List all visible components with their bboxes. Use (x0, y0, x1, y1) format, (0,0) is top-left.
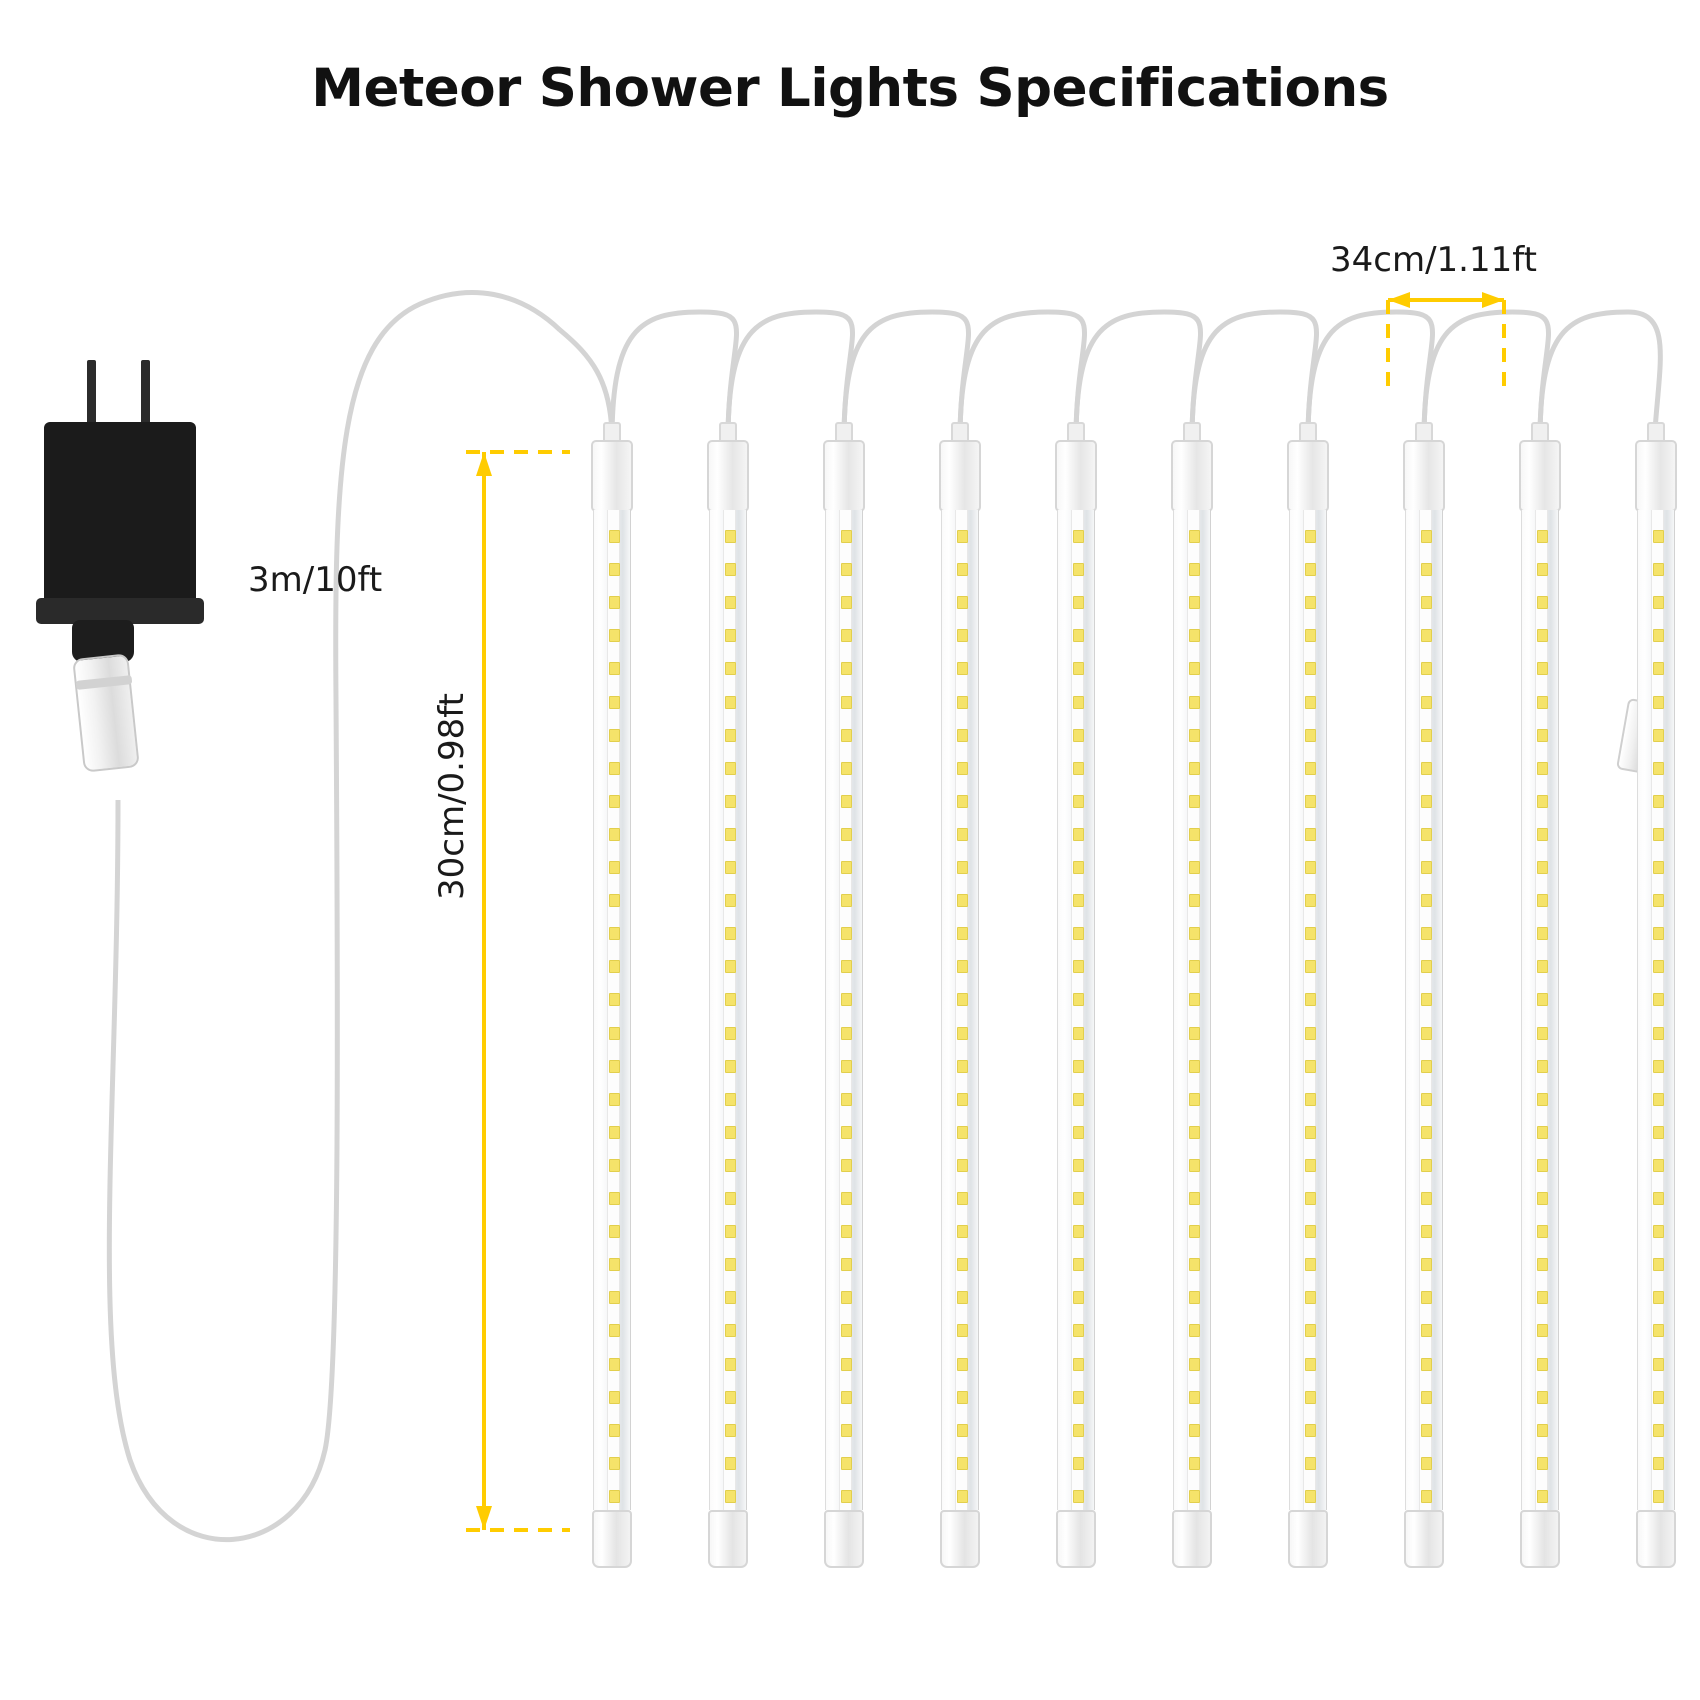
led-strip (1419, 510, 1432, 1510)
led (957, 1291, 968, 1304)
led (1653, 960, 1664, 973)
led (609, 894, 620, 907)
led (1305, 1027, 1316, 1040)
led (841, 1126, 852, 1139)
led (1305, 1490, 1316, 1503)
led (1537, 894, 1548, 907)
led (1189, 960, 1200, 973)
led (1421, 563, 1432, 576)
led (957, 530, 968, 543)
led (1189, 696, 1200, 709)
label-tube-length: 30cm/0.98ft (432, 693, 472, 900)
led (1537, 1027, 1548, 1040)
led (1653, 861, 1664, 874)
led (1189, 1027, 1200, 1040)
led (1189, 1457, 1200, 1470)
tube-cap-top (1055, 440, 1097, 512)
led (1653, 1324, 1664, 1337)
led (1073, 530, 1084, 543)
led (1421, 1424, 1432, 1437)
led (1537, 1291, 1548, 1304)
led (1073, 1324, 1084, 1337)
led (1305, 1457, 1316, 1470)
led (1421, 927, 1432, 940)
led (725, 1457, 736, 1470)
led (841, 861, 852, 874)
led (1537, 563, 1548, 576)
led (1537, 1192, 1548, 1205)
led (1537, 927, 1548, 940)
led (841, 1225, 852, 1238)
led (1653, 629, 1664, 642)
led (841, 1093, 852, 1106)
led (1653, 563, 1664, 576)
led (725, 960, 736, 973)
led (1421, 828, 1432, 841)
led (725, 1291, 736, 1304)
led (1189, 1324, 1200, 1337)
led (957, 894, 968, 907)
led (1305, 894, 1316, 907)
led (1537, 795, 1548, 808)
led (725, 696, 736, 709)
led (1537, 1060, 1548, 1073)
led (957, 1027, 968, 1040)
tube-body (1173, 510, 1211, 1510)
led (609, 1457, 620, 1470)
tube-body (1289, 510, 1327, 1510)
led (1305, 662, 1316, 675)
led (1653, 894, 1664, 907)
led (1073, 1358, 1084, 1371)
led (1073, 1126, 1084, 1139)
tube-cap-bottom (1636, 1510, 1676, 1568)
led (957, 1126, 968, 1139)
lead-wire (109, 292, 560, 1539)
led (725, 1192, 736, 1205)
led (1189, 1225, 1200, 1238)
led (609, 1391, 620, 1404)
led (725, 1027, 736, 1040)
led (841, 762, 852, 775)
led (1305, 1159, 1316, 1172)
led (609, 629, 620, 642)
led (1305, 1060, 1316, 1073)
tube-body (825, 510, 863, 1510)
led (1189, 1490, 1200, 1503)
led (1305, 729, 1316, 742)
led (609, 960, 620, 973)
led (609, 993, 620, 1006)
led (1073, 960, 1084, 973)
led (1421, 1093, 1432, 1106)
led (957, 795, 968, 808)
led (725, 1358, 736, 1371)
led (841, 828, 852, 841)
led (1537, 1159, 1548, 1172)
led (1421, 1391, 1432, 1404)
led (725, 795, 736, 808)
led (725, 629, 736, 642)
led (1189, 1126, 1200, 1139)
led (1421, 894, 1432, 907)
led (957, 1457, 968, 1470)
led (841, 629, 852, 642)
led (957, 729, 968, 742)
led (957, 696, 968, 709)
tube-cap-bottom (824, 1510, 864, 1568)
led (841, 1258, 852, 1271)
led (609, 1126, 620, 1139)
led (957, 828, 968, 841)
led (957, 993, 968, 1006)
led (1305, 1192, 1316, 1205)
led (841, 960, 852, 973)
led (1653, 1060, 1664, 1073)
tube-body (709, 510, 747, 1510)
led (1189, 1060, 1200, 1073)
led (841, 1358, 852, 1371)
led (1653, 729, 1664, 742)
led (841, 729, 852, 742)
led (1537, 1424, 1548, 1437)
led (1421, 1324, 1432, 1337)
led (1421, 1291, 1432, 1304)
led (1305, 1391, 1316, 1404)
tube-cap-bottom (1404, 1510, 1444, 1568)
led (609, 1258, 620, 1271)
led (841, 993, 852, 1006)
led (1305, 861, 1316, 874)
tube-cap-top (1287, 440, 1329, 512)
led (1537, 662, 1548, 675)
led (1073, 1192, 1084, 1205)
led (1189, 1258, 1200, 1271)
led (1421, 696, 1432, 709)
led (1537, 993, 1548, 1006)
led (1073, 1424, 1084, 1437)
led (1421, 960, 1432, 973)
led (1305, 795, 1316, 808)
led (1653, 795, 1664, 808)
led (1421, 1159, 1432, 1172)
led (957, 1258, 968, 1271)
led (725, 762, 736, 775)
led (1189, 861, 1200, 874)
tube-cap-bottom (1172, 1510, 1212, 1568)
led (609, 563, 620, 576)
led (1305, 629, 1316, 642)
led (957, 1225, 968, 1238)
led (1537, 960, 1548, 973)
led (1537, 1358, 1548, 1371)
led (609, 1324, 620, 1337)
led (841, 696, 852, 709)
led (1421, 1358, 1432, 1371)
led (957, 1358, 968, 1371)
led (1073, 696, 1084, 709)
led (957, 1324, 968, 1337)
led (1653, 1424, 1664, 1437)
dimension-tube-spacing (1388, 292, 1504, 390)
led (609, 530, 620, 543)
led (1537, 1093, 1548, 1106)
led (609, 662, 620, 675)
led (841, 1490, 852, 1503)
led (957, 762, 968, 775)
led-strip (1535, 510, 1548, 1510)
tube-cap-top (939, 440, 981, 512)
led (841, 894, 852, 907)
led (1073, 1159, 1084, 1172)
led (841, 596, 852, 609)
led (1305, 1358, 1316, 1371)
led (1073, 1027, 1084, 1040)
led (1305, 960, 1316, 973)
led (1305, 1324, 1316, 1337)
led (1537, 729, 1548, 742)
led (841, 1159, 852, 1172)
tube-cap-bottom (708, 1510, 748, 1568)
led (1189, 662, 1200, 675)
led (957, 861, 968, 874)
led (1073, 1093, 1084, 1106)
led (957, 1159, 968, 1172)
led (957, 1093, 968, 1106)
led (1653, 927, 1664, 940)
led (725, 1324, 736, 1337)
led (725, 1159, 736, 1172)
led (1189, 729, 1200, 742)
led (609, 795, 620, 808)
tube-body (1057, 510, 1095, 1510)
led (609, 696, 620, 709)
tube-body (1405, 510, 1443, 1510)
led (725, 828, 736, 841)
led (957, 1391, 968, 1404)
led (1653, 1093, 1664, 1106)
tube-body (1637, 510, 1675, 1510)
led (841, 1060, 852, 1073)
led (725, 1225, 736, 1238)
led (609, 1027, 620, 1040)
led (1653, 1258, 1664, 1271)
led (725, 1424, 736, 1437)
led (1653, 1490, 1664, 1503)
label-lead-wire-length: 3m/10ft (248, 560, 382, 600)
led (1305, 828, 1316, 841)
led (1073, 596, 1084, 609)
led (1305, 1225, 1316, 1238)
led (841, 1324, 852, 1337)
led (1073, 1490, 1084, 1503)
led (1073, 894, 1084, 907)
led (1653, 696, 1664, 709)
led (1653, 828, 1664, 841)
led (1421, 1490, 1432, 1503)
led (1305, 696, 1316, 709)
led (957, 1060, 968, 1073)
led (1073, 927, 1084, 940)
led (609, 1225, 620, 1238)
led (1073, 563, 1084, 576)
led (841, 1192, 852, 1205)
led (841, 795, 852, 808)
led (609, 596, 620, 609)
led (1189, 530, 1200, 543)
led (1421, 530, 1432, 543)
led (841, 1457, 852, 1470)
tube-cap-top (1635, 440, 1677, 512)
tube-cap-top (1519, 440, 1561, 512)
led (1189, 1424, 1200, 1437)
led (1653, 530, 1664, 543)
led (725, 530, 736, 543)
led (609, 828, 620, 841)
led (1073, 1457, 1084, 1470)
label-tube-spacing: 34cm/1.11ft (1330, 240, 1537, 280)
led (1653, 1225, 1664, 1238)
led (1189, 596, 1200, 609)
led (1189, 762, 1200, 775)
led (957, 1192, 968, 1205)
led (1653, 1126, 1664, 1139)
led (1305, 927, 1316, 940)
led (1653, 1358, 1664, 1371)
led (1653, 1192, 1664, 1205)
led (1305, 596, 1316, 609)
led (1421, 596, 1432, 609)
tube-body (1521, 510, 1559, 1510)
led-strip (723, 510, 736, 1510)
led (725, 993, 736, 1006)
tube-cap-bottom (592, 1510, 632, 1568)
led (725, 1391, 736, 1404)
led (1305, 1126, 1316, 1139)
tube-body (593, 510, 631, 1510)
led (1305, 1258, 1316, 1271)
led (1073, 828, 1084, 841)
led (1537, 1490, 1548, 1503)
led (609, 1490, 620, 1503)
led (1537, 1258, 1548, 1271)
led (1189, 1093, 1200, 1106)
led (1421, 1192, 1432, 1205)
led (1653, 1457, 1664, 1470)
led (1305, 1291, 1316, 1304)
led (1421, 1060, 1432, 1073)
led (1421, 795, 1432, 808)
led (609, 927, 620, 940)
led (609, 1192, 620, 1205)
led (957, 1424, 968, 1437)
led (725, 927, 736, 940)
led (1421, 861, 1432, 874)
tube-body (941, 510, 979, 1510)
led (725, 1093, 736, 1106)
led (957, 662, 968, 675)
tube-cap-top (1171, 440, 1213, 512)
tube-cap-bottom (1056, 1510, 1096, 1568)
led (1189, 894, 1200, 907)
led-strip (955, 510, 968, 1510)
tube-cap-bottom (940, 1510, 980, 1568)
led (841, 1391, 852, 1404)
led (1073, 993, 1084, 1006)
tube-cap-bottom (1288, 1510, 1328, 1568)
led (609, 1093, 620, 1106)
led (1421, 762, 1432, 775)
led (725, 1060, 736, 1073)
led (1537, 596, 1548, 609)
led (1305, 530, 1316, 543)
led (957, 960, 968, 973)
led (1653, 1291, 1664, 1304)
led (957, 629, 968, 642)
led (957, 596, 968, 609)
tube-cap-bottom (1520, 1510, 1560, 1568)
led (841, 1424, 852, 1437)
led (1537, 1225, 1548, 1238)
led (1189, 1192, 1200, 1205)
led (1421, 1258, 1432, 1271)
led (1305, 762, 1316, 775)
led (1537, 762, 1548, 775)
led (1653, 596, 1664, 609)
led (1073, 729, 1084, 742)
led (841, 927, 852, 940)
tube-cap-top (823, 440, 865, 512)
tube-cap-top (591, 440, 633, 512)
led (1305, 993, 1316, 1006)
led (725, 1490, 736, 1503)
led (1189, 1391, 1200, 1404)
led (1537, 1391, 1548, 1404)
led (725, 596, 736, 609)
led (1189, 795, 1200, 808)
led (1189, 993, 1200, 1006)
led (1305, 1093, 1316, 1106)
led (1421, 1126, 1432, 1139)
led (841, 1291, 852, 1304)
led (1537, 1324, 1548, 1337)
led (725, 861, 736, 874)
led (1073, 662, 1084, 675)
led (725, 563, 736, 576)
led (1073, 1291, 1084, 1304)
led (1421, 1027, 1432, 1040)
led (609, 1358, 620, 1371)
led (1653, 1159, 1664, 1172)
led (1537, 696, 1548, 709)
led (1421, 729, 1432, 742)
led (841, 662, 852, 675)
led (841, 530, 852, 543)
led (957, 1490, 968, 1503)
led (1305, 1424, 1316, 1437)
led (609, 762, 620, 775)
led (1073, 1258, 1084, 1271)
led (1537, 861, 1548, 874)
led (1653, 762, 1664, 775)
led (1653, 662, 1664, 675)
led (1189, 1358, 1200, 1371)
led (1073, 1225, 1084, 1238)
led (1537, 1457, 1548, 1470)
led (1421, 662, 1432, 675)
led (1653, 1391, 1664, 1404)
led (1189, 1159, 1200, 1172)
